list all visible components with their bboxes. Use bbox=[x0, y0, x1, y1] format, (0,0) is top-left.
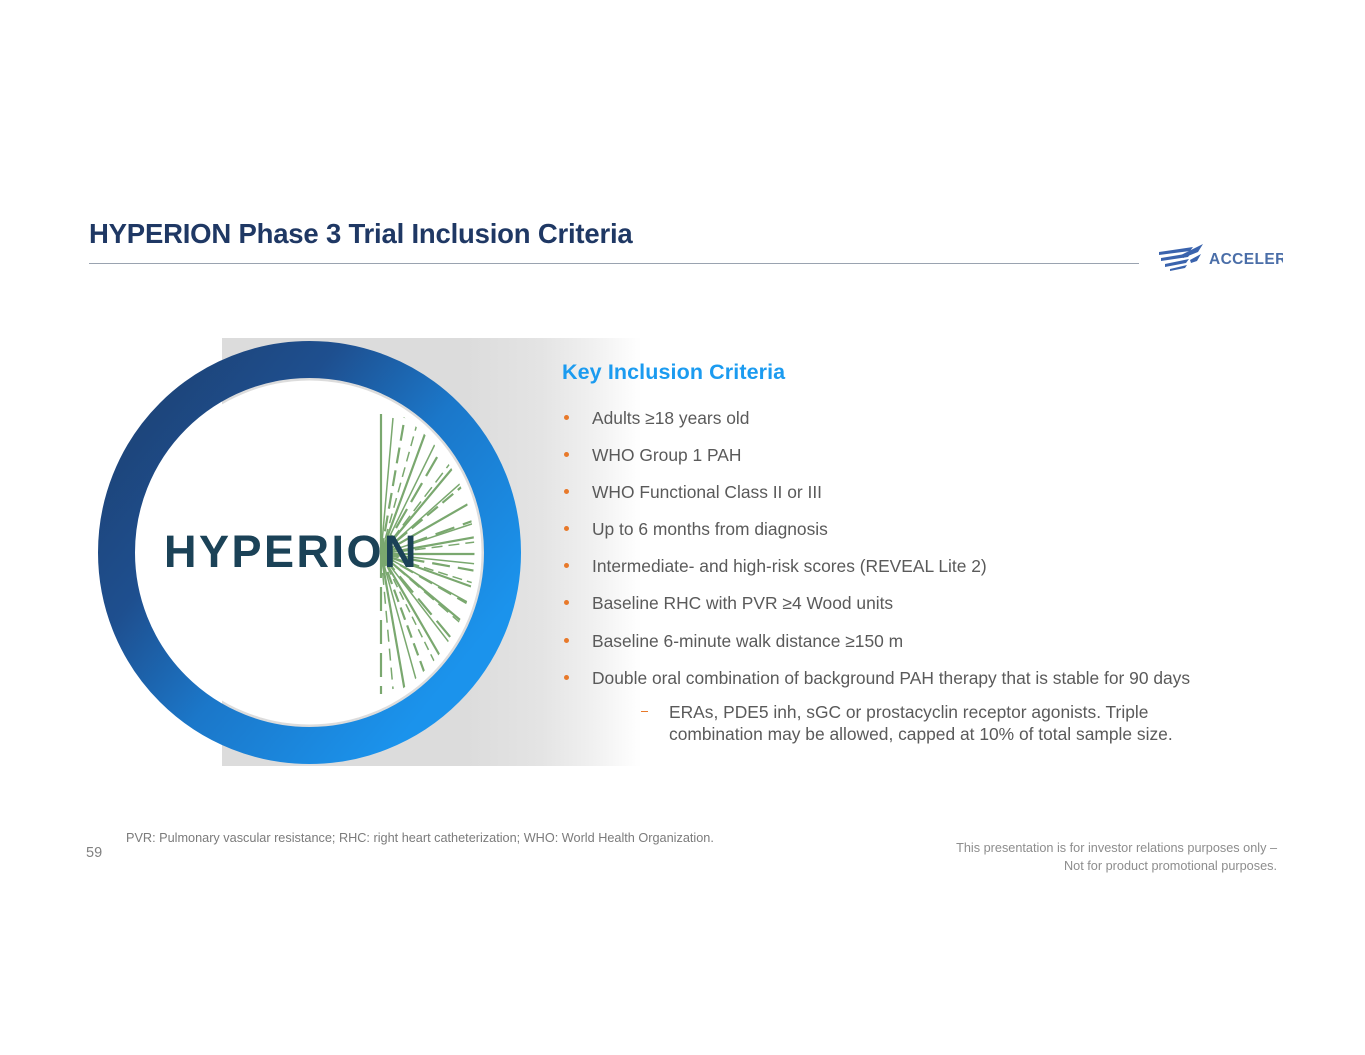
bullet-dot-icon bbox=[564, 452, 569, 457]
sub-list-item-label: ERAs, PDE5 inh, sGC or prostacyclin rece… bbox=[669, 702, 1173, 745]
bullet-dot-icon bbox=[564, 563, 569, 568]
hyperion-wordmark: HYPERION bbox=[164, 526, 419, 577]
list-item-label: Baseline 6-minute walk distance ≥150 m bbox=[592, 631, 903, 651]
acceleron-logo: ACCELERON bbox=[1157, 243, 1283, 273]
title-divider bbox=[89, 263, 1139, 264]
acceleron-wordmark: ACCELERON bbox=[1209, 251, 1283, 268]
criteria-heading: Key Inclusion Criteria bbox=[562, 360, 1212, 385]
list-item-label: Intermediate- and high-risk scores (REVE… bbox=[592, 556, 987, 576]
disclaimer-line-1: This presentation is for investor relati… bbox=[857, 839, 1277, 857]
hyperion-circle-logo: HYPERION bbox=[98, 341, 521, 764]
bullet-dot-icon bbox=[564, 638, 569, 643]
list-item: WHO Functional Class II or III bbox=[562, 481, 1212, 503]
list-item-label: Up to 6 months from diagnosis bbox=[592, 519, 828, 539]
bullet-dash-icon bbox=[641, 711, 648, 713]
list-item-label: WHO Group 1 PAH bbox=[592, 445, 741, 465]
list-item-label: WHO Functional Class II or III bbox=[592, 482, 822, 502]
bullet-dot-icon bbox=[564, 415, 569, 420]
page-number: 59 bbox=[86, 845, 102, 861]
key-inclusion-criteria-block: Key Inclusion Criteria Adults ≥18 years … bbox=[562, 360, 1212, 746]
list-item: WHO Group 1 PAH bbox=[562, 444, 1212, 466]
footnote: PVR: Pulmonary vascular resistance; RHC:… bbox=[126, 831, 714, 845]
bullet-dot-icon bbox=[564, 526, 569, 531]
list-item-label: Adults ≥18 years old bbox=[592, 408, 749, 428]
list-item: Up to 6 months from diagnosis bbox=[562, 518, 1212, 540]
list-item-label: Baseline RHC with PVR ≥4 Wood units bbox=[592, 593, 893, 613]
sub-list-item: ERAs, PDE5 inh, sGC or prostacyclin rece… bbox=[639, 701, 1212, 746]
bullet-dot-icon bbox=[564, 489, 569, 494]
list-item: Double oral combination of background PA… bbox=[562, 667, 1212, 746]
list-item: Baseline RHC with PVR ≥4 Wood units bbox=[562, 592, 1212, 614]
criteria-sublist: ERAs, PDE5 inh, sGC or prostacyclin rece… bbox=[592, 701, 1212, 746]
criteria-list: Adults ≥18 years old WHO Group 1 PAH WHO… bbox=[562, 407, 1212, 746]
disclaimer: This presentation is for investor relati… bbox=[857, 839, 1277, 876]
list-item: Adults ≥18 years old bbox=[562, 407, 1212, 429]
list-item: Baseline 6-minute walk distance ≥150 m bbox=[562, 630, 1212, 652]
bullet-dot-icon bbox=[564, 600, 569, 605]
page-title: HYPERION Phase 3 Trial Inclusion Criteri… bbox=[89, 218, 633, 250]
list-item: Intermediate- and high-risk scores (REVE… bbox=[562, 555, 1212, 577]
disclaimer-line-2: Not for product promotional purposes. bbox=[857, 857, 1277, 875]
slide-canvas: HYPERION Phase 3 Trial Inclusion Criteri… bbox=[0, 0, 1365, 1055]
list-item-label: Double oral combination of background PA… bbox=[592, 668, 1190, 688]
bullet-dot-icon bbox=[564, 675, 569, 680]
